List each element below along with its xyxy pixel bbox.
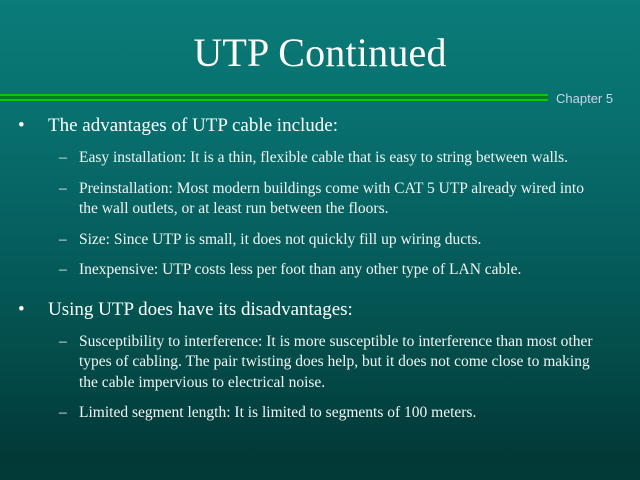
bullet-item-level2: – Preinstallation: Most modern buildings… bbox=[0, 179, 640, 220]
bullet-text: Susceptibility to interference: It is mo… bbox=[79, 333, 593, 391]
dash-marker-icon: – bbox=[59, 332, 67, 353]
bullet-item-level2: – Size: Since UTP is small, it does not … bbox=[0, 230, 640, 251]
dash-marker-icon: – bbox=[59, 403, 67, 424]
bullet-item-level2: – Easy installation: It is a thin, flexi… bbox=[0, 148, 640, 169]
dash-marker-icon: – bbox=[59, 260, 67, 281]
title-divider-bar bbox=[0, 94, 548, 103]
chapter-label: Chapter 5 bbox=[556, 91, 613, 107]
bullet-marker-icon: • bbox=[18, 297, 25, 322]
dash-marker-icon: – bbox=[59, 179, 67, 200]
bullet-item-level2: – Inexpensive: UTP costs less per foot t… bbox=[0, 260, 640, 281]
bullet-text: Limited segment length: It is limited to… bbox=[79, 404, 476, 421]
bullet-text: Inexpensive: UTP costs less per foot tha… bbox=[79, 261, 521, 278]
bullet-item-level1: • Using UTP does have its disadvantages: bbox=[0, 297, 640, 322]
slide-title: UTP Continued bbox=[0, 30, 640, 76]
bullet-item-level2: – Susceptibility to interference: It is … bbox=[0, 332, 640, 394]
bullet-text: Using UTP does have its disadvantages: bbox=[48, 299, 353, 320]
bullet-item-level2: – Limited segment length: It is limited … bbox=[0, 403, 640, 424]
bullet-text: Easy installation: It is a thin, flexibl… bbox=[79, 149, 568, 166]
bullet-text: The advantages of UTP cable include: bbox=[48, 115, 338, 136]
slide-body: • The advantages of UTP cable include: –… bbox=[0, 113, 640, 424]
bullet-text: Preinstallation: Most modern buildings c… bbox=[79, 180, 584, 218]
bullet-item-level1: • The advantages of UTP cable include: bbox=[0, 113, 640, 138]
bullet-marker-icon: • bbox=[18, 113, 25, 138]
bullet-text: Size: Since UTP is small, it does not qu… bbox=[79, 231, 481, 248]
presentation-slide: UTP Continued Chapter 5 • The advantages… bbox=[0, 0, 640, 480]
dash-marker-icon: – bbox=[59, 230, 67, 251]
dash-marker-icon: – bbox=[59, 148, 67, 169]
divider-line-shadow bbox=[0, 101, 548, 102]
